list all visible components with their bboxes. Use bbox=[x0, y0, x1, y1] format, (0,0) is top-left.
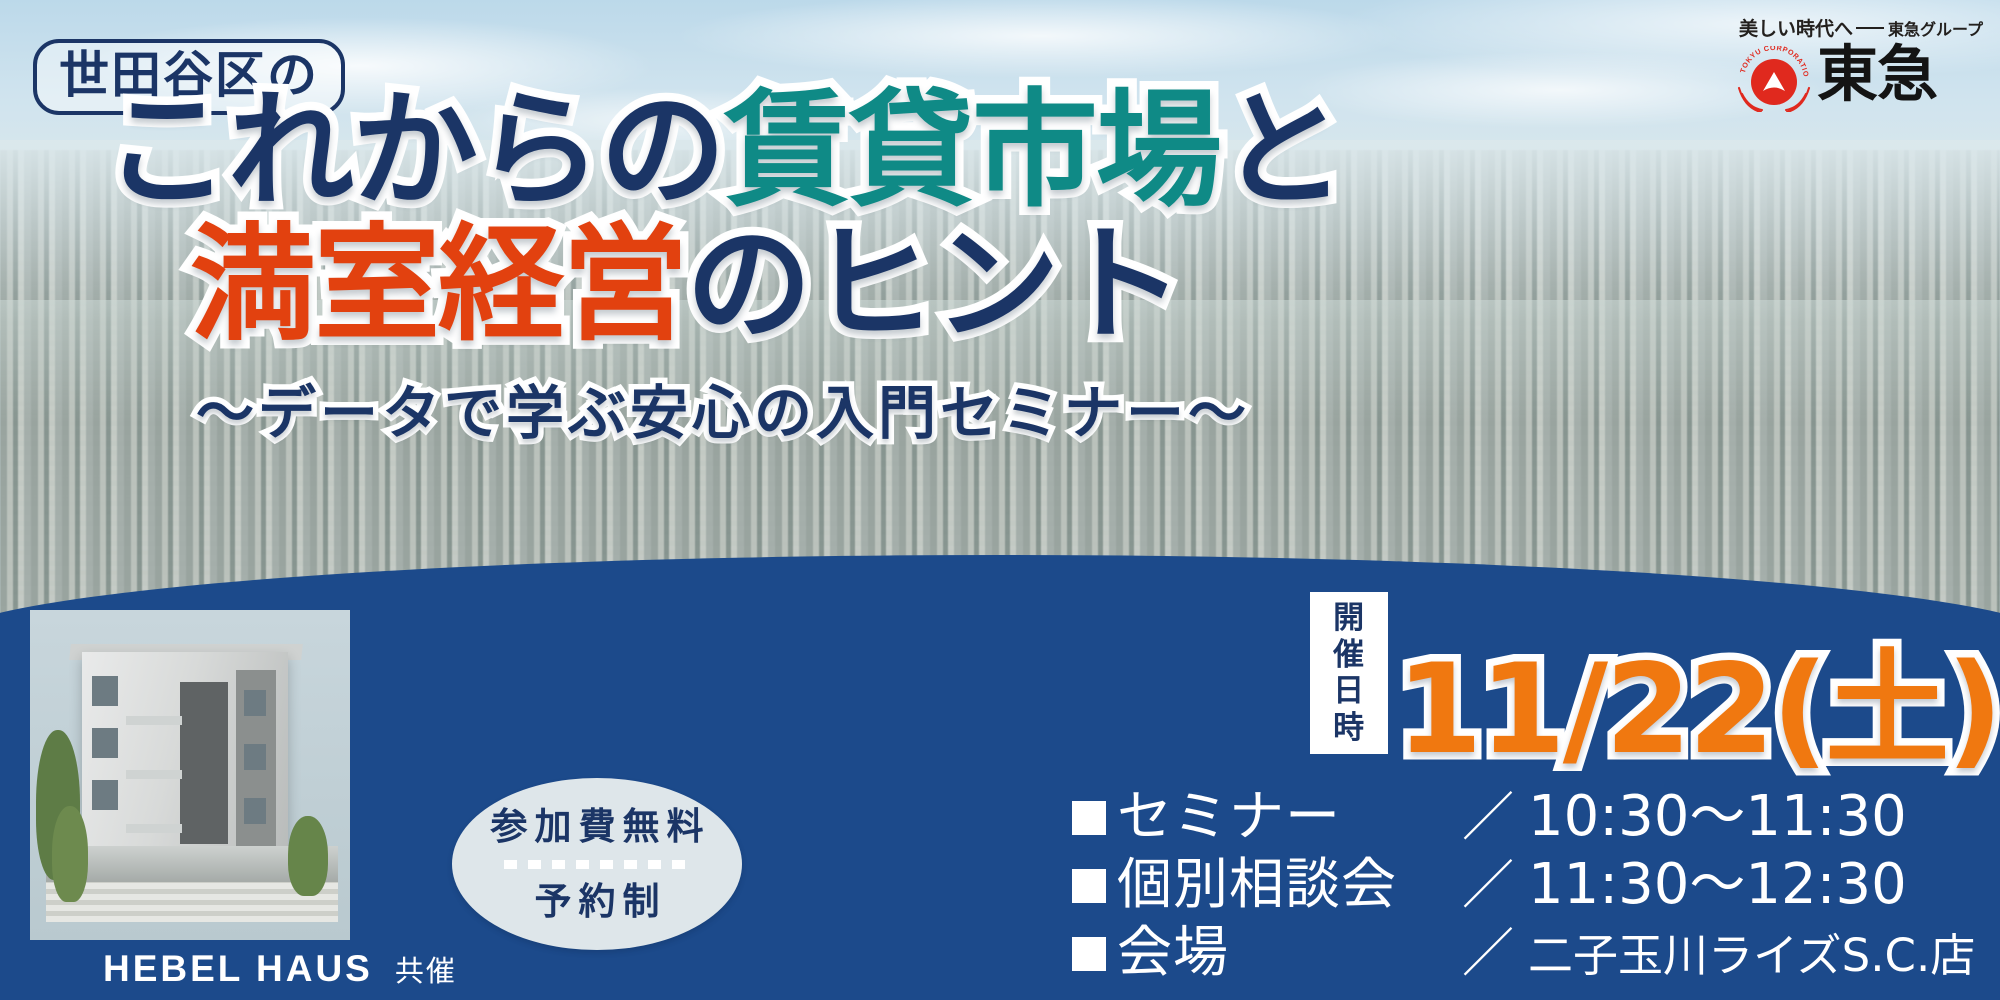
bullet-square-icon bbox=[1072, 869, 1106, 903]
reservation-required-label: 予約制 bbox=[528, 883, 667, 920]
schedule-label-venue: 会場 bbox=[1117, 925, 1462, 980]
event-date-label-line-1: 開催 bbox=[1319, 600, 1380, 673]
tokyu-tagline-dash bbox=[1856, 27, 1884, 29]
bullet-square-icon bbox=[1072, 937, 1106, 971]
tokyu-tagline-sub: 東急グループ bbox=[1888, 16, 1983, 40]
headline-line-1-part-c: と bbox=[1220, 77, 1344, 224]
event-date-label: 開催 日時 bbox=[1310, 592, 1388, 754]
schedule-separator-seminar: ／ bbox=[1462, 775, 1514, 850]
hebel-haus-logo: HEBEL HAUS 共催 bbox=[103, 948, 457, 990]
hebel-haus-cohost-note: 共催 bbox=[395, 948, 457, 990]
schedule-list: セミナー ／ 10:30〜11:30 個別相談会 ／ 11:30〜12:30 会… bbox=[1072, 775, 1975, 979]
schedule-row-seminar: セミナー ／ 10:30〜11:30 bbox=[1072, 775, 1975, 843]
tokyu-tagline: 美しい時代へ 東急グループ bbox=[1739, 14, 1983, 41]
tokyu-tagline-main: 美しい時代へ bbox=[1739, 14, 1853, 41]
hebel-haus-photo bbox=[30, 610, 350, 940]
schedule-time-consultation: 11:30〜12:30 bbox=[1528, 857, 1907, 913]
schedule-separator-venue: ／ bbox=[1462, 911, 1514, 986]
headline-line-1-part-b: 賃貸市場 bbox=[724, 77, 1220, 224]
headline-block: これからの賃貸市場と 満室経営のヒント 〜データで学ぶ安心の入門セミナー〜 bbox=[0, 88, 1320, 450]
tokyu-wordmark: 東急 bbox=[1817, 44, 1937, 105]
event-date-value: 11/22(土) bbox=[1396, 652, 2000, 769]
schedule-time-seminar: 10:30〜11:30 bbox=[1528, 789, 1907, 845]
seminar-banner: 世田谷区の これからの賃貸市場と 満室経営のヒント 〜データで学ぶ安心の入門セミ… bbox=[0, 0, 2000, 1000]
event-date-block: 開催 日時 11/22(土) bbox=[1310, 592, 2000, 768]
schedule-label-consultation: 個別相談会 bbox=[1117, 857, 1462, 912]
schedule-row-venue: 会場 ／ 二子玉川ライズS.C.店 bbox=[1072, 911, 1975, 979]
schedule-venue-name: 二子玉川ライズS.C.店 bbox=[1528, 933, 1975, 978]
headline-line-2-part-b: のヒント bbox=[686, 211, 1182, 358]
headline-line-2: 満室経営のヒント bbox=[0, 222, 1320, 348]
headline-line-2-part-a: 満室経営 bbox=[190, 211, 686, 358]
bullet-square-icon bbox=[1072, 801, 1106, 835]
badge-dashed-divider bbox=[504, 860, 690, 869]
event-date-label-line-2: 日時 bbox=[1319, 673, 1380, 746]
hebel-haus-wordmark: HEBEL HAUS bbox=[103, 948, 373, 990]
free-admission-badge: 参加費無料 予約制 bbox=[452, 778, 742, 950]
schedule-label-seminar: セミナー bbox=[1117, 789, 1462, 844]
schedule-separator-consultation: ／ bbox=[1462, 843, 1514, 918]
headline-line-1: これからの賃貸市場と bbox=[0, 88, 1320, 214]
headline-line-1-part-a: これからの bbox=[104, 77, 724, 224]
tokyu-logo: 美しい時代へ 東急グループ TOKYU CORPORATION bbox=[1735, 14, 1985, 112]
headline-subtitle: 〜データで学ぶ安心の入門セミナー〜 bbox=[0, 366, 1320, 450]
free-admission-label: 参加費無料 bbox=[484, 808, 711, 845]
schedule-row-consultation: 個別相談会 ／ 11:30〜12:30 bbox=[1072, 843, 1975, 911]
tokyu-emblem-icon: TOKYU CORPORATION bbox=[1735, 46, 1813, 112]
